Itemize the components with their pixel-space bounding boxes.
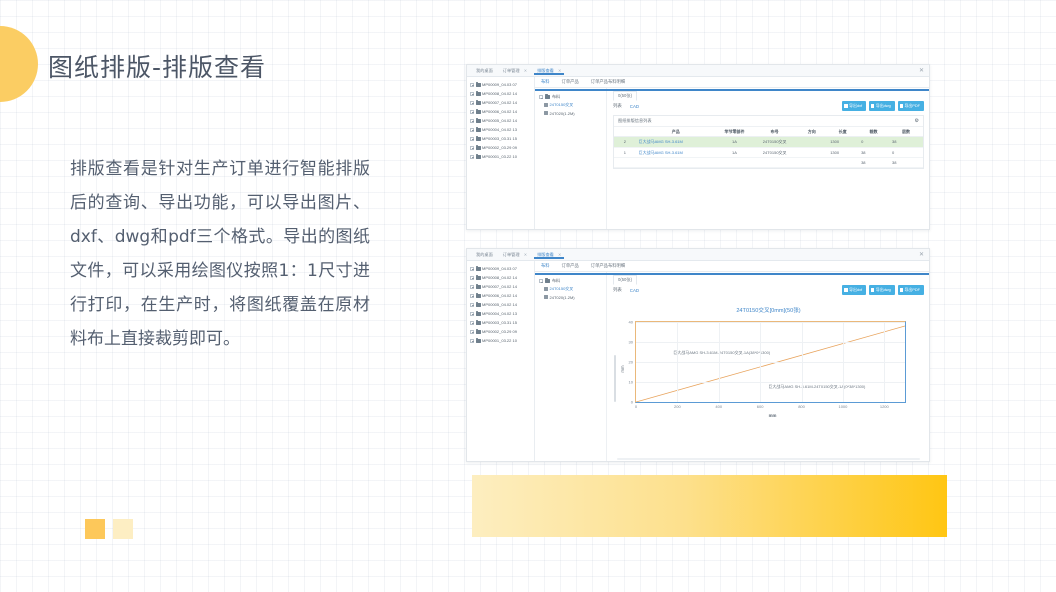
chart-y-tick: 0 — [631, 400, 633, 405]
folder-icon — [476, 92, 481, 96]
file-tree-item[interactable]: MP00005_04.02 14 — [470, 116, 532, 125]
table-row[interactable]: 1 巨大战马AMG SH-3.61M 1A 24T0150交叉 1300 38 … — [614, 147, 923, 158]
expand-icon[interactable] — [470, 146, 474, 150]
table-row[interactable]: 2 巨大战马AMG SH-3.61M 1A 24T0150交叉 1300 0 3… — [614, 137, 923, 148]
chart-x-tick: 600 — [757, 404, 764, 409]
fabric-tree-root[interactable]: 布料 — [539, 277, 603, 285]
file-export-icon — [900, 104, 903, 108]
file-tree-item[interactable]: MP00001_03.22 10 — [470, 336, 532, 345]
browser-tab-label: 订单管理 — [503, 252, 520, 257]
browser-tab-label: 排版查看 — [537, 252, 554, 257]
tab-active-indicator — [535, 273, 929, 274]
folder-icon — [476, 285, 481, 289]
table-col-length: 长度 — [827, 127, 858, 137]
cell-fabric-no: 24T0150交叉 — [753, 137, 796, 148]
app-screenshot-list-view: 我的桌面 订单管理 ✕ 排版查看 ✕ ✕ MP00009_04.03 07 MP… — [466, 64, 930, 230]
table-total-row: 38 38 — [614, 158, 923, 168]
chart-plot-area: 巨大战马AMG SH-3.61M-24T0150交叉-1A(38*0*1300)… — [635, 321, 906, 403]
file-tree-label: MP00007_04.02 14 — [482, 284, 517, 289]
cell-direction — [796, 158, 827, 168]
expand-icon[interactable] — [470, 110, 474, 114]
file-tree-label: MP00003_03.31 15 — [482, 136, 517, 141]
close-icon[interactable]: ✕ — [558, 68, 561, 73]
file-export-icon — [871, 104, 874, 108]
folder-icon — [476, 110, 481, 114]
folder-icon — [545, 95, 550, 99]
chart-y-tick: 30 — [629, 340, 633, 345]
inner-tab-bar: 布料 订单产品 订单产品布料明细 — [535, 77, 929, 88]
decorative-square-light — [113, 519, 133, 539]
chart-y-tick: 20 — [629, 360, 633, 365]
folder-icon — [476, 303, 481, 307]
file-tree-item[interactable]: MP00003_03.31 15 — [470, 318, 532, 327]
tab-label: 订单产品 — [562, 263, 579, 268]
folder-icon — [476, 146, 481, 150]
export-dwg-button[interactable]: 导出dwg — [869, 285, 895, 294]
chart-x-tick: 1200 — [880, 404, 889, 409]
chart-x-tick: 800 — [798, 404, 805, 409]
file-tree-item[interactable]: MP00006_04.02 14 — [470, 107, 532, 116]
tab-order-product-fabric-detail[interactable]: 订单产品布料明细 — [591, 263, 625, 269]
tab-fabric[interactable]: 布料 — [541, 263, 550, 269]
folder-icon — [476, 312, 481, 316]
file-tree-label: MP00008_04.02 14 — [482, 275, 517, 280]
browser-tab-strip: 我的桌面 订单管理 ✕ 排版查看 ✕ ✕ — [467, 65, 929, 77]
cell-part: 1A — [716, 137, 753, 148]
fabric-tree-item[interactable]: 24T020(1.2M) — [539, 109, 603, 117]
file-export-icon — [871, 288, 874, 292]
export-button-group: 导出dxf 导出dwg 导出PDF — [842, 285, 924, 294]
file-tree-item[interactable]: MP00005_04.02 14 — [470, 300, 532, 309]
view-tab-list[interactable]: 列表 — [613, 287, 622, 293]
button-label: 导出PDF — [904, 287, 920, 293]
button-label: 导出dxf — [849, 287, 862, 293]
browser-tab-orders[interactable]: 订单管理 ✕ — [498, 252, 532, 258]
tab-order-product[interactable]: 订单产品 — [562, 263, 579, 269]
browser-tab-label: 我的桌面 — [476, 68, 493, 73]
fabric-tree-label: 布料 — [552, 278, 560, 284]
close-icon[interactable]: ✕ — [524, 252, 527, 257]
app-body: MP00009_04.03 07 MP00008_04.02 14 MP0000… — [467, 261, 929, 461]
cad-chart-area: 24T0150交叉[0mm](50张) mm 巨大战马AMG SH-3.61M-… — [613, 296, 924, 461]
chart-gridline — [636, 342, 905, 343]
table-col-part: 竿节零部件 — [716, 127, 753, 137]
expand-icon[interactable] — [470, 137, 474, 141]
decorative-circle — [0, 26, 38, 102]
tab-active-indicator — [535, 89, 929, 90]
content-toolbar: 列表 CAD 导出dxf 导出dwg — [613, 284, 924, 296]
expand-icon[interactable] — [470, 294, 474, 298]
chart-plot-wrapper: mm 巨大战马AMG SH-3.61M-24T0150交叉-1A(38*0*13… — [635, 321, 910, 417]
cell-layers: 38 — [889, 137, 923, 148]
cell-length: 1300 — [827, 137, 858, 148]
browser-tab-label: 我的桌面 — [476, 252, 493, 257]
table-col-layers: 层数 — [889, 127, 923, 137]
chip-row: 0(50张) — [613, 92, 924, 100]
chart-gridline — [636, 382, 905, 383]
folder-icon — [476, 83, 481, 87]
export-pdf-button[interactable]: 导出PDF — [898, 285, 924, 294]
file-tree-label: MP00007_04.02 14 — [482, 100, 517, 105]
slide-body-text: 排版查看是针对生产订单进行智能排版后的查询、导出功能，可以导出图片、dxf、dw… — [70, 152, 370, 356]
file-tree-label: MP00002_03.29 09 — [482, 329, 517, 334]
right-pane: 布料 订单产品 订单产品布料明细 布料 24T0150交叉 — [535, 77, 929, 229]
button-label: 导出dwg — [876, 287, 891, 293]
export-dxf-button[interactable]: 导出dxf — [842, 101, 866, 110]
cell-direction — [796, 147, 827, 158]
gear-icon[interactable]: ⚙ — [915, 119, 919, 124]
cell-direction — [796, 137, 827, 148]
file-tree-label: MP00009_04.03 07 — [482, 82, 517, 87]
table-col-product: 产品 — [636, 127, 716, 137]
cell-length: 1300 — [827, 147, 858, 158]
chart-title: 24T0150交叉[0mm](50张) — [613, 306, 924, 314]
button-label: 导出dxf — [849, 103, 862, 109]
cell-layers: 0 — [889, 147, 923, 158]
fabric-tree-label: 布料 — [552, 94, 560, 100]
app-screenshot-cad-view: 我的桌面 订单管理 ✕ 排版查看 ✕ ✕ MP00009_04.03 07 MP… — [466, 248, 930, 462]
fabric-tree-label: 24T020(1.2M) — [550, 295, 575, 300]
expand-icon[interactable] — [470, 339, 474, 343]
folder-icon — [476, 330, 481, 334]
cell-fabric-no: 24T0150交叉 — [753, 147, 796, 158]
file-icon — [544, 111, 548, 116]
cell-part: 1A — [716, 147, 753, 158]
expand-icon[interactable] — [470, 119, 474, 123]
table-caption-row: 图纸排版信息列表 ⚙ — [614, 116, 923, 127]
file-tree-label: MP00001_03.22 10 — [482, 154, 517, 159]
browser-tab-label: 订单管理 — [503, 68, 520, 73]
tab-label: 布料 — [541, 79, 550, 84]
tab-active-indicator — [534, 257, 564, 259]
expand-icon[interactable] — [470, 276, 474, 280]
cell-index: 1 — [614, 147, 636, 158]
pane-split: 布料 24T0150交叉 24T020(1.2M) 0(50张) — [535, 272, 929, 461]
browser-tab-strip: 我的桌面 订单管理 ✕ 排版查看 ✕ ✕ — [467, 249, 929, 261]
chart-x-tick: 1000 — [838, 404, 847, 409]
file-tree-item[interactable]: MP00009_04.03 07 — [470, 80, 532, 89]
cell-product: 巨大战马AMG SH-3.61M — [636, 147, 716, 158]
file-tree-item[interactable]: MP00002_03.29 09 — [470, 143, 532, 152]
cell-index — [614, 158, 636, 168]
file-tree-label: MP00005_04.02 14 — [482, 302, 517, 307]
expand-icon[interactable] — [470, 285, 474, 289]
file-tree-panel-bottom[interactable]: MP00009_04.03 07 MP00008_04.02 14 MP0000… — [467, 261, 535, 461]
folder-icon — [476, 294, 481, 298]
folder-icon — [476, 137, 481, 141]
file-icon — [544, 103, 548, 108]
window-close-icon[interactable]: ✕ — [919, 252, 924, 258]
chart-x-tick: 400 — [715, 404, 722, 409]
window-close-icon[interactable]: ✕ — [919, 68, 924, 74]
file-tree-item[interactable]: MP00001_03.22 10 — [470, 152, 532, 161]
cell-index: 2 — [614, 137, 636, 148]
export-pdf-button[interactable]: 导出PDF — [898, 101, 924, 110]
browser-tab-layout-view[interactable]: 排版查看 ✕ — [532, 68, 566, 74]
file-tree-label: MP00002_03.29 09 — [482, 145, 517, 150]
expand-icon[interactable] — [470, 101, 474, 105]
file-tree-item[interactable]: MP00008_04.02 14 — [470, 89, 532, 98]
expand-icon[interactable] — [470, 83, 474, 87]
chart-x-tick: 0 — [635, 404, 637, 409]
fabric-tree-item[interactable]: 24T0150交叉 — [539, 285, 603, 293]
chart-annotation: 巨大战马AMG SH-3.61M-24T0150交叉-1A(38*0*1300) — [673, 350, 770, 356]
expand-icon[interactable] — [470, 128, 474, 132]
cell-cut-count: 0 — [858, 137, 889, 148]
browser-tab-desktop[interactable]: 我的桌面 — [471, 68, 498, 74]
right-pane: 布料 订单产品 订单产品布料明细 布料 24T0150交叉 — [535, 261, 929, 461]
folder-icon — [476, 119, 481, 123]
expand-icon[interactable] — [470, 312, 474, 316]
file-tree-label: MP00008_04.02 14 — [482, 91, 517, 96]
file-tree-label: MP00004_04.02 13 — [482, 127, 517, 132]
folder-icon — [476, 155, 481, 159]
file-tree-item[interactable]: MP00006_04.02 14 — [470, 291, 532, 300]
tab-active-indicator — [534, 73, 564, 75]
view-tab-cad[interactable]: CAD — [630, 288, 639, 293]
fabric-tree-label: 24T0150交叉 — [550, 102, 574, 108]
chart-gridline — [636, 362, 905, 363]
file-tree-label: MP00009_04.03 07 — [482, 266, 517, 271]
chip-row: 0(50张) — [613, 276, 924, 284]
expand-icon[interactable] — [470, 155, 474, 159]
table-caption: 图纸排版信息列表 — [618, 118, 652, 124]
cell-layers-total: 38 — [889, 158, 923, 168]
view-tab-list[interactable]: 列表 — [613, 103, 622, 109]
file-export-icon — [844, 288, 847, 292]
folder-icon — [545, 279, 550, 283]
file-export-icon — [900, 288, 903, 292]
chart-x-tick: 200 — [674, 404, 681, 409]
table-col-index — [614, 127, 636, 137]
chart-gridline — [636, 322, 905, 323]
chart-annotation: 巨大战马AMG SH-3.61M-24T0150交叉-1A(0*38*1300) — [768, 384, 865, 390]
fabric-tree[interactable]: 布料 24T0150交叉 24T020(1.2M) — [535, 272, 607, 461]
file-tree-label: MP00006_04.02 14 — [482, 293, 517, 298]
tab-label: 订单产品 — [562, 79, 579, 84]
expand-icon[interactable] — [470, 267, 474, 271]
chart-y-tick: 10 — [629, 380, 633, 385]
tab-label: 布料 — [541, 263, 550, 268]
file-tree-item[interactable]: MP00008_04.02 14 — [470, 273, 532, 282]
button-label: 导出PDF — [904, 103, 920, 109]
export-dwg-button[interactable]: 导出dwg — [869, 101, 895, 110]
tab-label: 订单产品布料明细 — [591, 263, 625, 268]
file-icon — [544, 295, 548, 300]
expand-icon[interactable] — [470, 321, 474, 325]
file-export-icon — [844, 104, 847, 108]
cell-cut-count: 38 — [858, 147, 889, 158]
file-tree-item[interactable]: MP00009_04.03 07 — [470, 264, 532, 273]
decorative-gradient-bar — [472, 475, 947, 537]
tab-order-product-fabric-detail[interactable]: 订单产品布料明细 — [591, 79, 625, 85]
export-button-group: 导出dxf 导出dwg 导出PDF — [842, 101, 924, 110]
inner-tab-bar: 布料 订单产品 订单产品布料明细 — [535, 261, 929, 272]
folder-icon — [476, 267, 481, 271]
browser-tab-layout-view[interactable]: 排版查看 ✕ — [532, 252, 566, 258]
file-tree-item[interactable]: MP00002_03.29 09 — [470, 327, 532, 336]
table-col-direction: 方向 — [796, 127, 827, 137]
cell-cut-total: 38 — [858, 158, 889, 168]
file-tree-panel-top[interactable]: MP00009_04.03 07 MP00008_04.02 14 MP0000… — [467, 77, 535, 229]
fabric-tree-item[interactable]: 24T0150交叉 — [539, 101, 603, 109]
pane-split: 布料 24T0150交叉 24T020(1.2M) 0(50张) — [535, 88, 929, 229]
fabric-tree-root[interactable]: 布料 — [539, 93, 603, 101]
file-tree-label: MP00001_03.22 10 — [482, 338, 517, 343]
file-tree-item[interactable]: MP00003_03.31 15 — [470, 134, 532, 143]
folder-icon — [476, 128, 481, 132]
layout-info-table: 产品 竿节零部件 布号 方向 长度 裁数 层数 — [614, 127, 923, 168]
table-header-row: 产品 竿节零部件 布号 方向 长度 裁数 层数 — [614, 127, 923, 137]
file-tree-item[interactable]: MP00007_04.02 14 — [470, 98, 532, 107]
decorative-square-solid — [85, 519, 105, 539]
folder-icon — [476, 276, 481, 280]
folder-icon — [476, 101, 481, 105]
fabric-tree[interactable]: 布料 24T0150交叉 24T020(1.2M) — [535, 88, 607, 229]
chart-x-axis-label: mm — [769, 413, 777, 418]
fabric-tree-label: 24T020(1.2M) — [550, 111, 575, 116]
cell-length — [827, 158, 858, 168]
table-col-fabric-no: 布号 — [753, 127, 796, 137]
file-tree-label: MP00006_04.02 14 — [482, 109, 517, 114]
file-tree-item[interactable]: MP00004_04.02 13 — [470, 309, 532, 318]
fabric-tree-label: 24T0150交叉 — [550, 286, 574, 292]
browser-tab-orders[interactable]: 订单管理 ✕ — [498, 68, 532, 74]
cell-part — [716, 158, 753, 168]
file-tree-label: MP00005_04.02 14 — [482, 118, 517, 123]
button-label: 导出dwg — [876, 103, 891, 109]
vertical-scrollbar[interactable] — [614, 355, 616, 401]
cell-product — [636, 158, 716, 168]
file-tree-label: MP00003_03.31 15 — [482, 320, 517, 325]
content-toolbar: 列表 CAD 导出dxf 导出dwg — [613, 100, 924, 112]
file-icon — [544, 287, 548, 292]
browser-tab-desktop[interactable]: 我的桌面 — [471, 252, 498, 258]
page-title: 图纸排版-排版查看 — [48, 48, 266, 84]
expand-icon[interactable] — [470, 92, 474, 96]
browser-tab-label: 排版查看 — [537, 68, 554, 73]
content-panel: 0(50张) 列表 CAD 导出dxf 导出dwg — [607, 88, 929, 229]
file-tree-label: MP00004_04.02 13 — [482, 311, 517, 316]
expand-icon[interactable] — [470, 330, 474, 334]
cell-product: 巨大战马AMG SH-3.61M — [636, 137, 716, 148]
table-col-cut-count: 裁数 — [858, 127, 889, 137]
tab-label: 订单产品布料明细 — [591, 79, 625, 84]
file-tree-item[interactable]: MP00004_04.02 13 — [470, 125, 532, 134]
content-panel: 0(50张) 列表 CAD 导出dxf 导出dwg — [607, 272, 929, 461]
tab-fabric[interactable]: 布料 — [541, 79, 550, 85]
cell-fabric-no — [753, 158, 796, 168]
file-tree-item[interactable]: MP00007_04.02 14 — [470, 282, 532, 291]
layout-info-table-card: 图纸排版信息列表 ⚙ 产品 竿节零部件 布号 方向 — [613, 115, 924, 169]
expand-icon[interactable] — [539, 95, 543, 99]
horizontal-scrollbar[interactable] — [617, 458, 920, 460]
tab-order-product[interactable]: 订单产品 — [562, 79, 579, 85]
expand-icon[interactable] — [470, 303, 474, 307]
view-tab-cad[interactable]: CAD — [630, 104, 639, 109]
app-body: MP00009_04.03 07 MP00008_04.02 14 MP0000… — [467, 77, 929, 229]
chart-y-axis-label: mm — [620, 366, 625, 373]
chart-y-tick: 40 — [629, 320, 633, 325]
export-dxf-button[interactable]: 导出dxf — [842, 285, 866, 294]
folder-icon — [476, 321, 481, 325]
close-icon[interactable]: ✕ — [558, 252, 561, 257]
close-icon[interactable]: ✕ — [524, 68, 527, 73]
folder-icon — [476, 339, 481, 343]
fabric-tree-item[interactable]: 24T020(1.2M) — [539, 293, 603, 301]
expand-icon[interactable] — [539, 279, 543, 283]
